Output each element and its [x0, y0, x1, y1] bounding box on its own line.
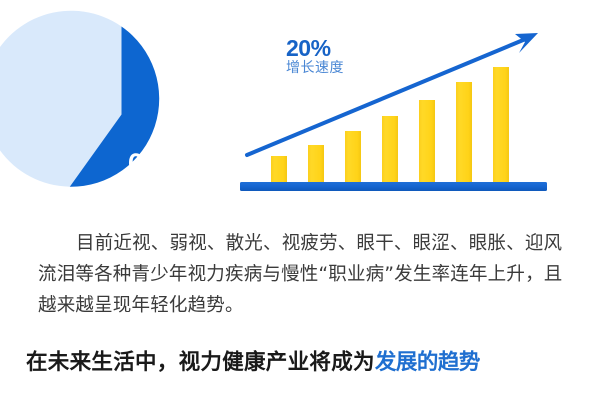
bar-chart-baseline [240, 182, 547, 191]
bar-1 [271, 156, 287, 183]
infographic-panel: 60% [0, 0, 600, 215]
pie-chart: 60% [33, 26, 210, 203]
pie-chart-svg [33, 26, 210, 203]
headline: 在未来生活中，视力健康产业将成为发展的趋势 [26, 345, 480, 376]
growth-subtitle-label: 增长速度 [286, 61, 344, 76]
growth-callout: 20% 增长速度 [286, 36, 344, 76]
growth-percent-label: 20% [286, 36, 344, 60]
bar-6 [456, 82, 472, 183]
headline-plain-text: 在未来生活中，视力健康产业将成为 [26, 350, 375, 375]
bar-4 [382, 116, 398, 183]
headline-accent-text: 发展的趋势 [375, 350, 480, 375]
bar-chart-svg [236, 20, 556, 200]
bar-2 [308, 145, 324, 183]
body-paragraph: 目前近视、弱视、散光、视疲劳、眼干、眼涩、眼胀、迎风流泪等各种青少年视力疾病与慢… [38, 228, 568, 321]
pie-slice-label: 60% [128, 150, 181, 177]
bar-3 [345, 131, 361, 183]
bar-7 [493, 67, 509, 183]
bar-5 [419, 100, 435, 183]
bar-chart [236, 20, 556, 200]
body-line-1: 目前近视、弱视、散光、视疲劳、眼干、眼涩、眼胀、 [76, 233, 525, 254]
